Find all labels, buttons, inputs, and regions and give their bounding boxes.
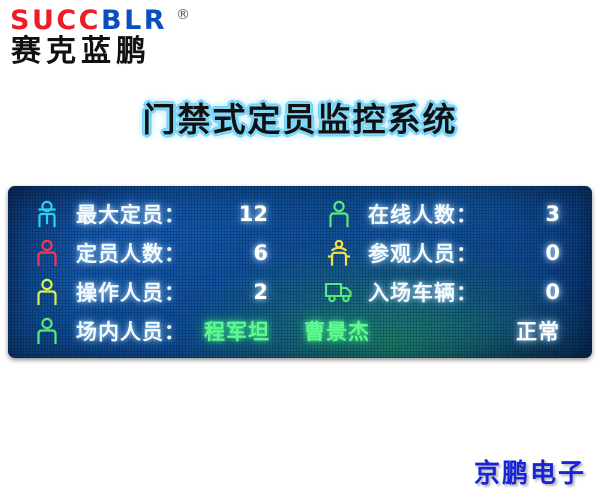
led-row: 最大定员： 12 在线人数： 3 xyxy=(8,194,592,233)
led-row-onsite-personnel: 场内人员： 程军坦 曹景杰 正常 xyxy=(8,311,592,350)
company-logo: SUCCBLR ® 赛克蓝鹏 xyxy=(8,6,258,68)
led-label: 最大定员： xyxy=(76,199,186,229)
led-label: 操作人员： xyxy=(76,277,186,307)
led-display-panel: 最大定员： 12 在线人数： 3 xyxy=(8,186,592,358)
led-label: 场内人员： xyxy=(76,316,186,346)
person-icon xyxy=(322,199,356,229)
person-icon xyxy=(30,238,64,268)
truck-icon xyxy=(322,277,356,307)
led-label: 在线人数： xyxy=(368,199,478,229)
led-cell-max-capacity: 最大定员： 12 xyxy=(8,194,300,233)
led-label: 参观人员： xyxy=(368,238,478,268)
logo-wordmark: SUCCBLR ® xyxy=(8,6,258,36)
person-icon xyxy=(30,316,64,346)
led-value: 2 xyxy=(253,280,268,304)
visitor-person-with-hat-icon xyxy=(322,238,356,268)
led-cell-visitor-count: 参观人员： 0 xyxy=(300,233,592,272)
footer-brand: 京鹏电子 xyxy=(474,453,586,490)
led-cell-operator-count: 操作人员： 2 xyxy=(8,272,300,311)
led-value: 0 xyxy=(545,241,560,265)
onsite-name: 曹景杰 xyxy=(304,316,370,346)
led-cell-vehicle-count: 入场车辆： 0 xyxy=(300,272,592,311)
led-cell-onsite: 场内人员： 程军坦 曹景杰 正常 xyxy=(8,311,592,350)
status-badge: 正常 xyxy=(516,316,560,346)
led-value: 6 xyxy=(253,241,268,265)
led-row: 操作人员： 2 入场车辆： 0 xyxy=(8,272,592,311)
onsite-name: 程军坦 xyxy=(204,316,270,346)
operator-person-icon xyxy=(30,277,64,307)
logo-wordmark-red: SUCC xyxy=(10,5,101,36)
led-cell-assigned-count: 定员人数： 6 xyxy=(8,233,300,272)
led-cell-online-count: 在线人数： 3 xyxy=(300,194,592,233)
led-value: 3 xyxy=(545,202,560,226)
led-label: 定员人数： xyxy=(76,238,186,268)
logo-wordmark-blue: BLR xyxy=(101,5,167,36)
led-rows-container: 最大定员： 12 在线人数： 3 xyxy=(8,186,592,358)
page-title: 门禁式定员监控系统 xyxy=(0,93,600,141)
led-label: 入场车辆： xyxy=(368,277,478,307)
logo-chinese-name: 赛克蓝鹏 xyxy=(8,35,258,69)
led-value: 0 xyxy=(545,280,560,304)
led-row: 定员人数： 6 参观人员： 0 xyxy=(8,233,592,272)
person-with-hat-icon xyxy=(30,199,64,229)
led-value: 12 xyxy=(239,202,268,226)
registered-trademark-icon: ® xyxy=(176,8,193,22)
